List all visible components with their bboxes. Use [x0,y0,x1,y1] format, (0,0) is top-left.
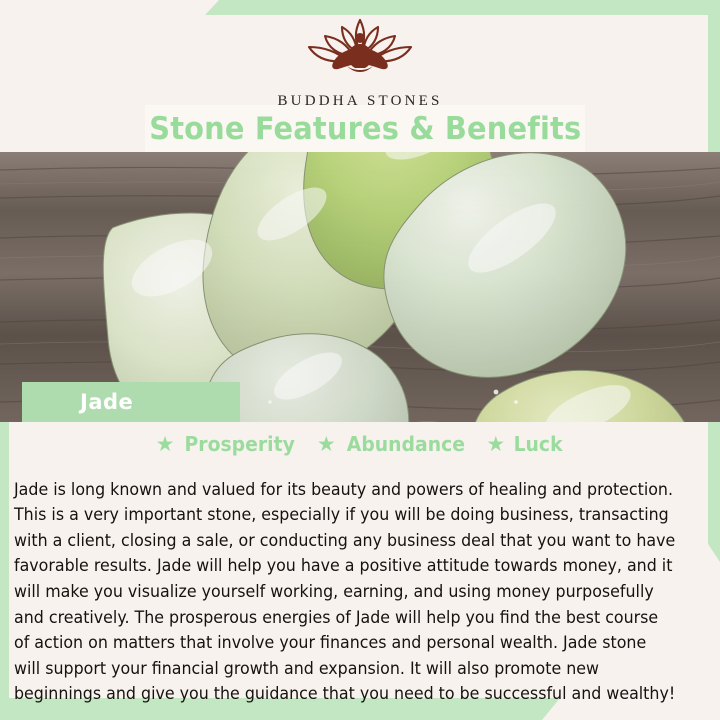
benefit-item: ★ Luck [486,432,564,456]
benefit-item: ★ Abundance [317,432,469,456]
stone-name: Jade [80,390,133,414]
star-icon: ★ [156,434,175,455]
lotus-meditation-icon [285,14,435,89]
star-icon: ★ [486,434,505,455]
star-icon: ★ [317,434,336,455]
title-banner: Stone Features & Benefits [145,105,585,152]
stone-description: Jade is long known and valued for its be… [14,477,677,707]
stone-name-tag: Jade [22,382,240,422]
stone-info-card: BUDDHA STONES Stone Features & Benefits [0,0,720,720]
benefit-label: Abundance [346,432,464,456]
brand-logo: BUDDHA STONES [0,14,720,110]
benefit-label: Luck [514,432,563,456]
benefits-row: ★ Prosperity ★ Abundance ★ Luck [0,432,720,456]
benefit-label: Prosperity [185,432,295,456]
decorative-corner-top-right [205,0,720,15]
page-title: Stone Features & Benefits [149,111,581,147]
benefit-item: ★ Prosperity [156,432,299,456]
